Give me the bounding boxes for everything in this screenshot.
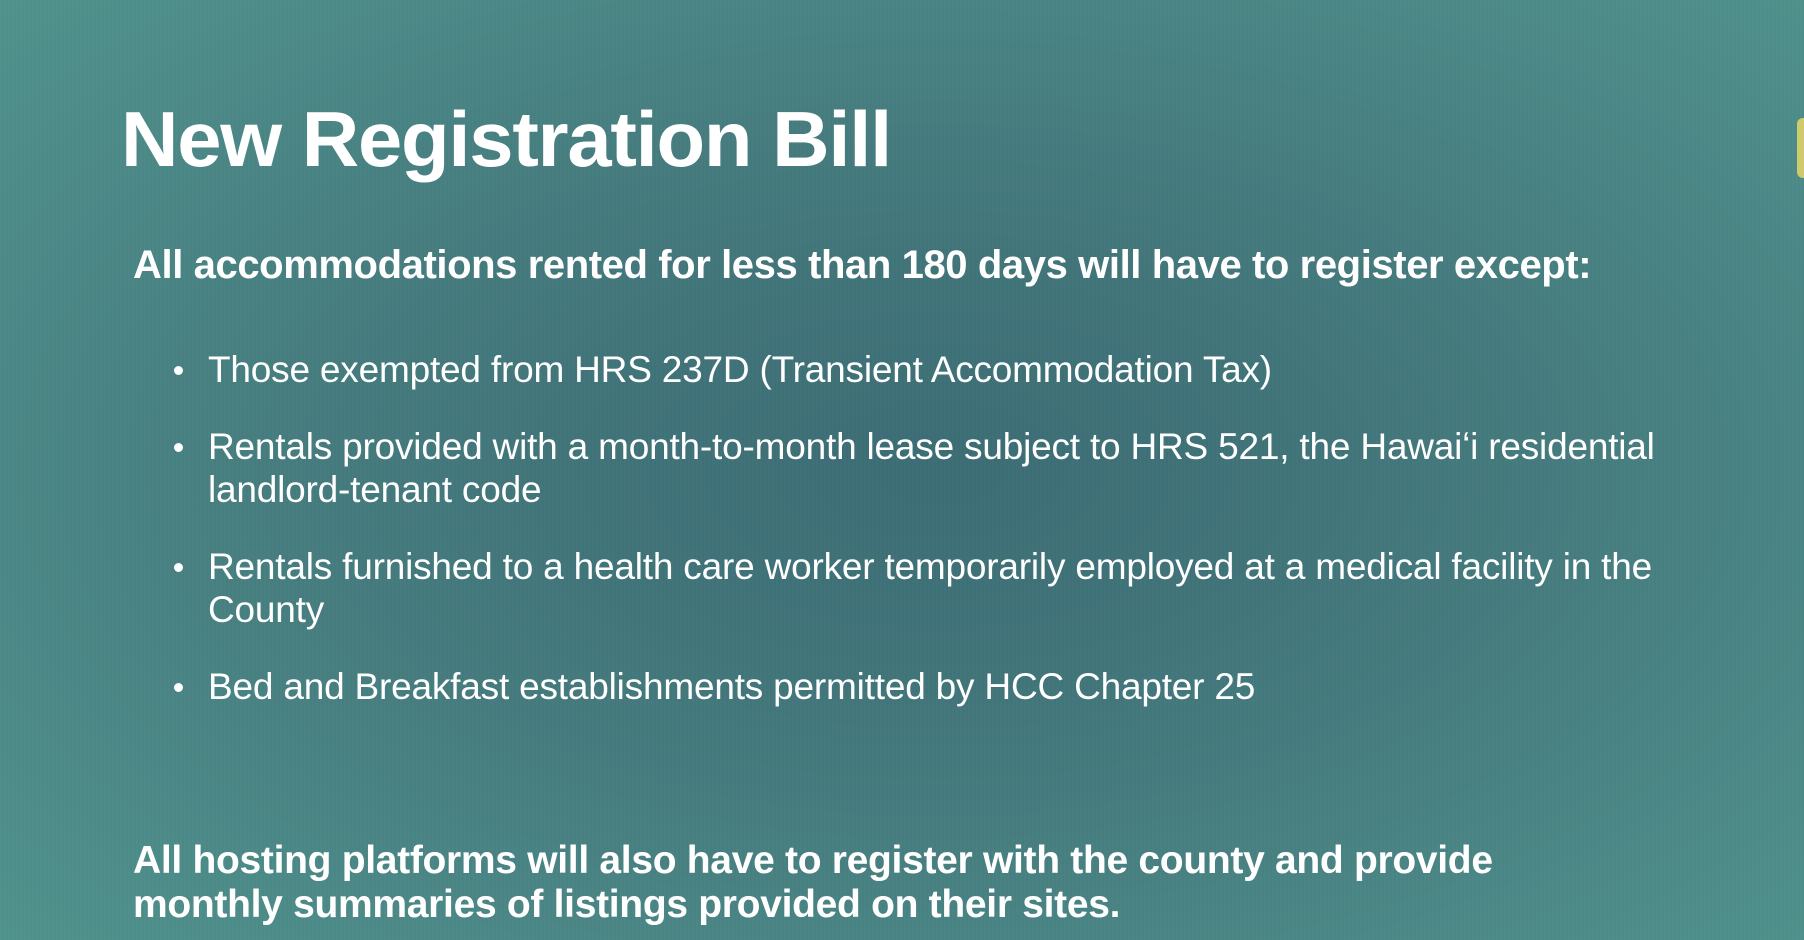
exception-list: Those exempted from HRS 237D (Transient … <box>168 349 1688 708</box>
list-item: Bed and Breakfast establishments permitt… <box>168 666 1688 709</box>
list-item-label: Bed and Breakfast establishments permitt… <box>208 666 1688 709</box>
bullet-dot-icon <box>174 366 183 375</box>
list-item: Rentals provided with a month-to-month l… <box>168 426 1688 512</box>
bullet-dot-icon <box>174 563 183 572</box>
lead-statement: All accommodations rented for less than … <box>133 243 1623 288</box>
edge-accent-sliver <box>1797 118 1804 178</box>
bullet-dot-icon <box>174 443 183 452</box>
page-title: New Registration Bill <box>121 100 891 178</box>
list-item-label: Rentals furnished to a health care worke… <box>208 546 1688 632</box>
presentation-slide: New Registration Bill All accommodations… <box>0 0 1804 940</box>
list-item: Rentals furnished to a health care worke… <box>168 546 1688 632</box>
list-item-label: Those exempted from HRS 237D (Transient … <box>208 349 1688 392</box>
list-item-label: Rentals provided with a month-to-month l… <box>208 426 1688 512</box>
bullet-dot-icon <box>174 683 183 692</box>
list-item: Those exempted from HRS 237D (Transient … <box>168 349 1688 392</box>
closing-statement: All hosting platforms will also have to … <box>133 839 1593 926</box>
